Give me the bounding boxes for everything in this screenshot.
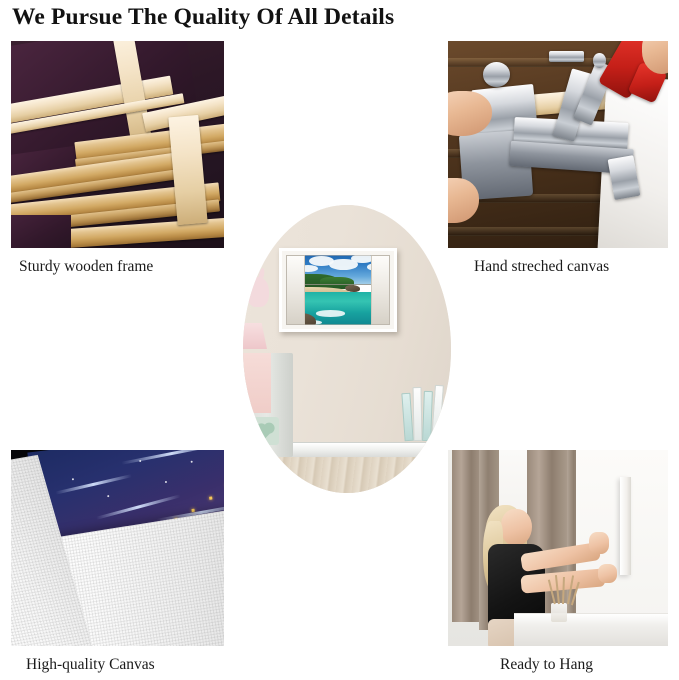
hanging-canvas-illustration <box>448 450 668 646</box>
canvas-print-illustration <box>11 450 224 646</box>
book <box>413 387 423 441</box>
caption-ready-to-hang: Ready to Hang <box>500 655 593 675</box>
metal-part <box>549 51 584 61</box>
light-streak <box>55 474 132 495</box>
village-window-light <box>191 509 194 512</box>
star <box>190 460 192 462</box>
star <box>165 481 167 483</box>
room-preview-ellipse <box>243 205 451 493</box>
bunny-toy <box>247 277 269 307</box>
wooden-frames-illustration <box>11 41 224 248</box>
hand <box>598 564 618 584</box>
console-table <box>514 613 668 646</box>
dresser-pink-panel <box>243 353 271 413</box>
window-frame <box>282 251 394 329</box>
feature-image-hand-streched-canvas <box>448 41 668 248</box>
caption-sturdy-wooden-frame: Sturdy wooden frame <box>19 257 153 277</box>
artwork-scene <box>282 251 394 329</box>
canvas-stretching-illustration <box>448 41 668 248</box>
feature-image-sturdy-wooden-frame <box>11 41 224 248</box>
plier-knob <box>483 62 509 87</box>
face <box>501 509 532 546</box>
reed-diffuser-bottle <box>551 603 566 623</box>
hand <box>589 532 609 554</box>
product-feature-infographic: We Pursue The Quality Of All Details Stu… <box>0 0 679 680</box>
caption-high-quality-canvas: High-quality Canvas <box>26 655 155 675</box>
star <box>72 478 74 480</box>
book-stack <box>403 385 451 441</box>
wall-artwork <box>279 248 397 332</box>
page-title: We Pursue The Quality Of All Details <box>12 2 652 32</box>
feature-image-ready-to-hang <box>448 450 668 646</box>
caption-hand-streched-canvas: Hand streched canvas <box>474 257 609 277</box>
village-window-light <box>208 496 211 499</box>
wooden-floor <box>243 457 451 493</box>
blank-canvas-on-wall <box>620 477 631 575</box>
frame-canvas-back <box>11 215 71 248</box>
feature-image-high-quality-canvas <box>11 450 224 646</box>
star <box>106 495 108 497</box>
light-streak <box>121 450 221 465</box>
